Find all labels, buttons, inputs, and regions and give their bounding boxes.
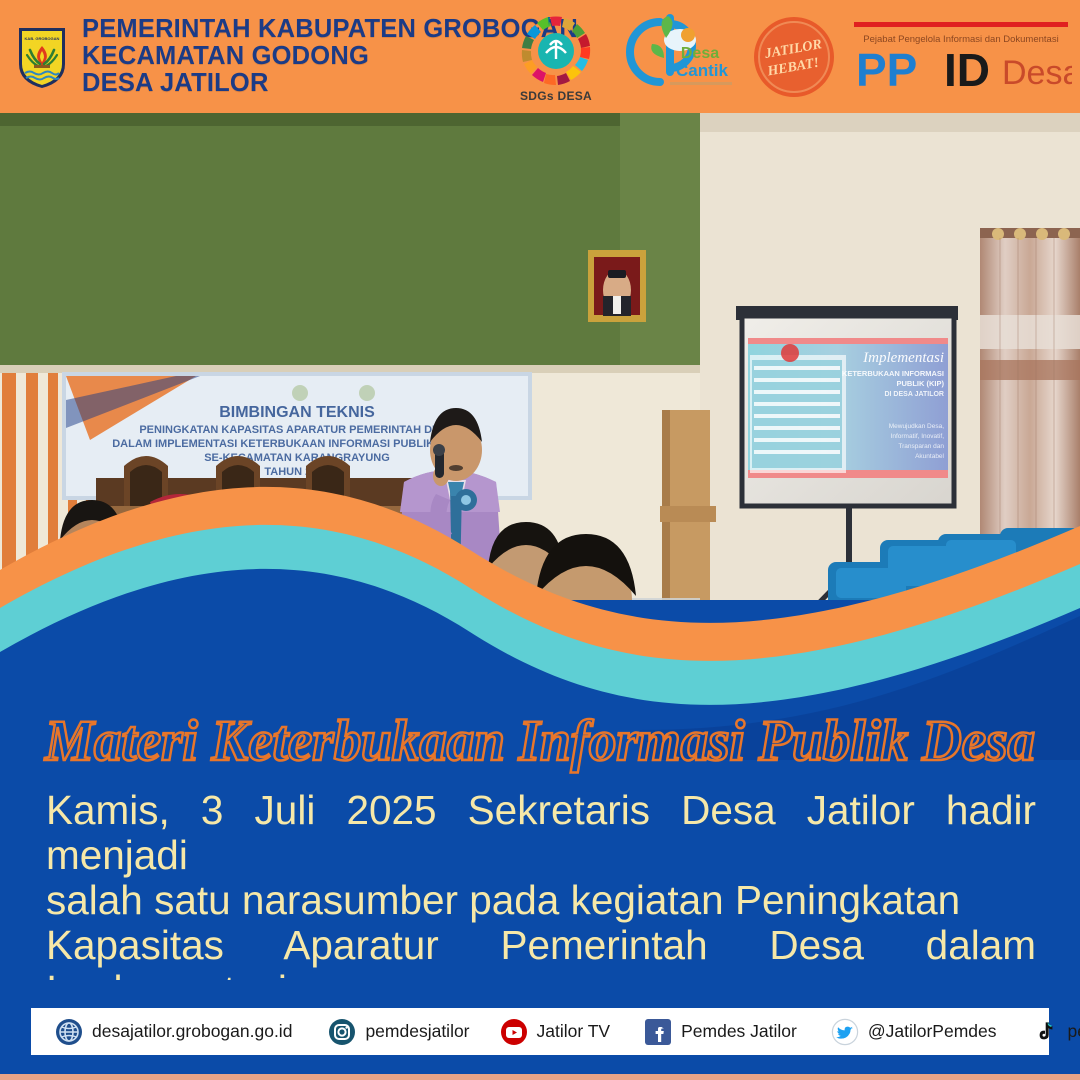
svg-text:BIMBINGAN TEKNIS: BIMBINGAN TEKNIS bbox=[219, 404, 375, 421]
tiktok-icon bbox=[1031, 1018, 1059, 1046]
poster-canvas: BIMBINGAN TEKNIS PENINGKATAN KAPASITAS A… bbox=[0, 0, 1080, 1080]
facebook-icon bbox=[644, 1018, 672, 1046]
svg-text:DI DESA JATILOR: DI DESA JATILOR bbox=[884, 391, 944, 398]
grobogan-coat-of-arms-icon: KAB. GROBOGAN bbox=[16, 24, 68, 90]
body-line: salah satu narasumber pada kegiatan Peni… bbox=[46, 878, 1036, 923]
partner-logos: SDGs DESA Desa Cantik bbox=[502, 0, 1072, 113]
desa-cantik-caption-top: Desa bbox=[681, 45, 719, 62]
desa-cantik-caption-bottom: Cantik bbox=[676, 61, 729, 80]
svg-text:KAB. GROBOGAN: KAB. GROBOGAN bbox=[25, 36, 60, 41]
footer-item-website[interactable]: desajatilor.grobogan.go.id bbox=[55, 1008, 292, 1055]
social-media-bar: desajatilor.grobogan.go.id pemdesjatilor bbox=[31, 1008, 1049, 1055]
poster-header: KAB. GROBOGAN PEMERINTAH KABUPATEN GROBO… bbox=[0, 0, 1080, 113]
wall-portrait bbox=[588, 250, 646, 322]
instagram-icon bbox=[328, 1018, 356, 1046]
desa-cantik-logo: Desa Cantik bbox=[620, 7, 738, 107]
footer-label-facebook: Pemdes Jatilor bbox=[681, 1021, 797, 1042]
footer-label-youtube: Jatilor TV bbox=[537, 1021, 611, 1042]
body-line: Kamis, 3 Juli 2025 Sekretaris Desa Jatil… bbox=[46, 788, 1036, 878]
ppid-desa-logo: Pejabat Pengelola Informasi dan Dokument… bbox=[850, 7, 1072, 107]
youtube-icon bbox=[500, 1018, 528, 1046]
svg-text:PUBLIK (KIP): PUBLIK (KIP) bbox=[897, 379, 945, 388]
footer-item-facebook[interactable]: Pemdes Jatilor bbox=[644, 1008, 797, 1055]
ppid-desa: Desa bbox=[1002, 54, 1072, 92]
svg-text:Mewujudkan Desa,: Mewujudkan Desa, bbox=[889, 423, 944, 430]
ppid-id: ID bbox=[944, 44, 990, 96]
footer-label-website: desajatilor.grobogan.go.id bbox=[92, 1021, 292, 1042]
bottom-accent-strip bbox=[0, 1074, 1080, 1080]
globe-icon bbox=[55, 1018, 83, 1046]
sdgs-desa-caption: SDGs DESA bbox=[502, 89, 610, 103]
sdgs-desa-logo: SDGs DESA bbox=[502, 7, 610, 107]
script-title-text: Materi Keterbukaan Informasi Publik Desa bbox=[44, 708, 1035, 773]
twitter-icon bbox=[831, 1018, 859, 1046]
footer-label-instagram: pemdesjatilor bbox=[365, 1021, 469, 1042]
svg-text:Implementasi: Implementasi bbox=[862, 350, 944, 366]
svg-text:KETERBUKAAN INFORMASI: KETERBUKAAN INFORMASI bbox=[842, 369, 944, 378]
footer-item-tiktok[interactable]: pemdes_jatilor bbox=[1031, 1008, 1080, 1055]
footer-label-twitter: @JatilorPemdes bbox=[868, 1021, 997, 1042]
footer-item-twitter[interactable]: @JatilorPemdes bbox=[831, 1008, 997, 1055]
jatilor-hebat-logo: JATILOR HEBAT! bbox=[748, 7, 840, 107]
poster-script-title: Materi Keterbukaan Informasi Publik Desa bbox=[0, 702, 1080, 784]
footer-label-tiktok: pemdes_jatilor bbox=[1068, 1021, 1080, 1042]
footer-item-instagram[interactable]: pemdesjatilor bbox=[328, 1008, 469, 1055]
ppid-pp: PP bbox=[856, 44, 917, 96]
footer-item-youtube[interactable]: Jatilor TV bbox=[500, 1008, 611, 1055]
